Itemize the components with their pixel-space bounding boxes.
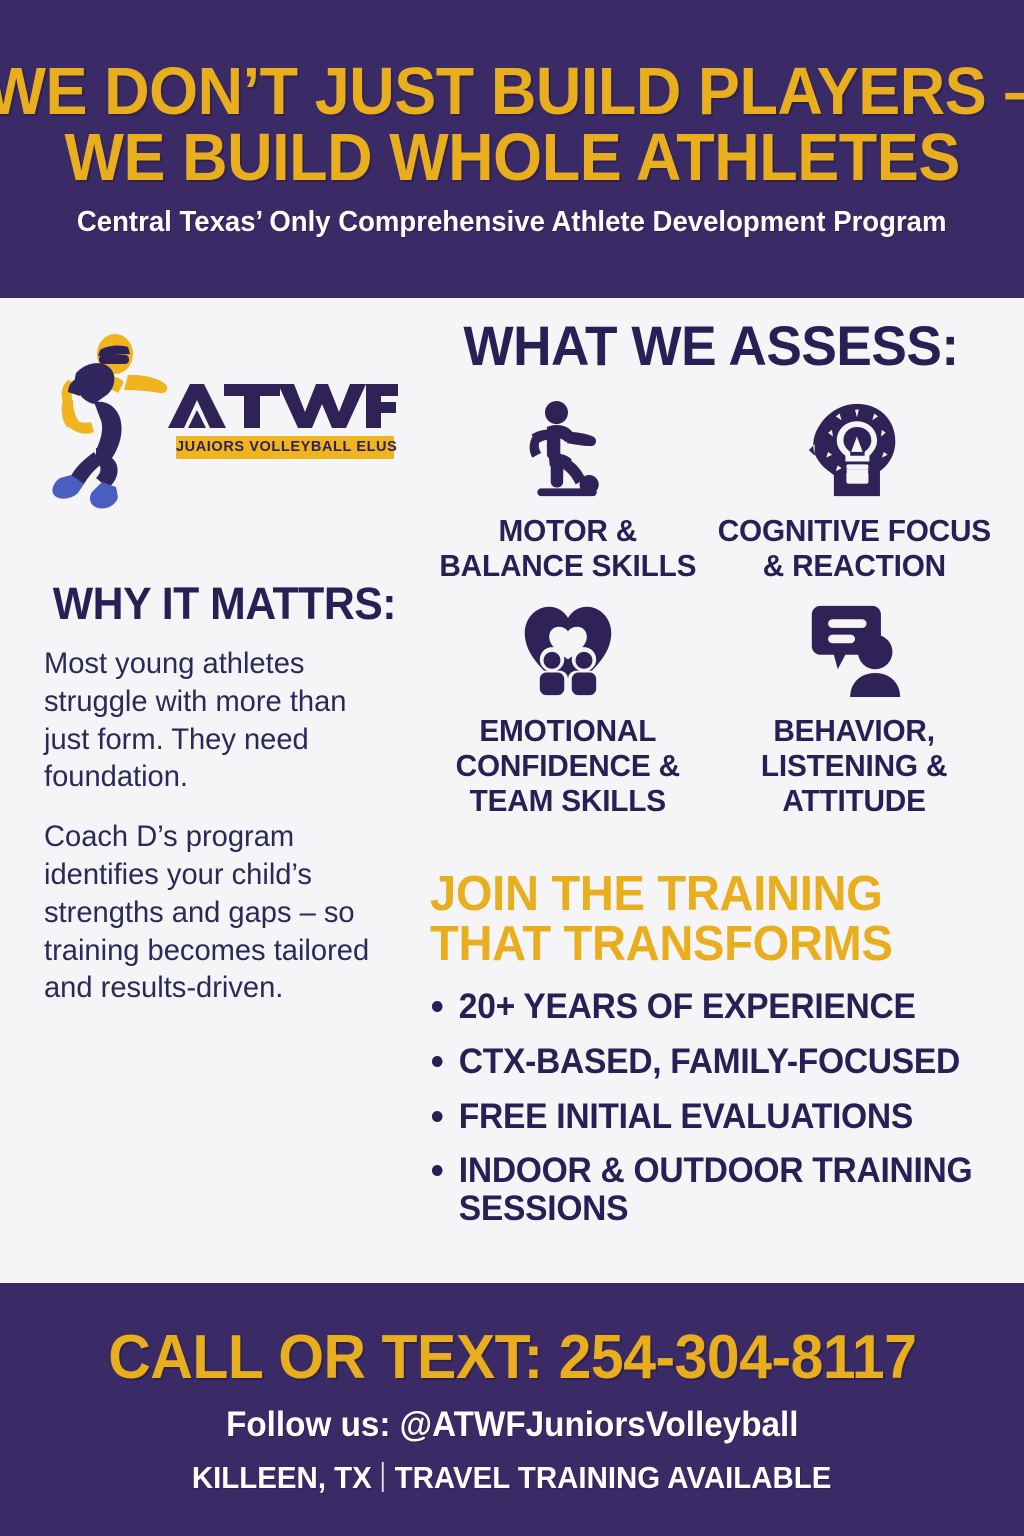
assess-item: MOTOR & BALANCE SKILLS (424, 394, 711, 584)
what-we-assess-section: WHAT WE ASSESS: (424, 318, 998, 819)
list-item: 20+ YEARS OF EXPERIENCE (430, 988, 987, 1026)
join-benefits-list: 20+ YEARS OF EXPERIENCE CTX-BASED, FAMIL… (430, 988, 1010, 1228)
join-training-section: JOIN THE TRAINING THAT TRANSFORMS 20+ YE… (430, 870, 1010, 1228)
city-label: KILLEEN, TX (192, 1462, 372, 1493)
headline-line-2: WE BUILD WHOLE ATHLETES (0, 125, 1024, 191)
phone-cta[interactable]: CALL OR TEXT: 254-304-8117 (108, 1327, 916, 1389)
join-title-line-1: JOIN THE TRAINING (430, 870, 987, 920)
travel-label: TRAVEL TRAINING AVAILABLE (395, 1462, 832, 1493)
list-item: FREE INITIAL EVALUATIONS (430, 1098, 987, 1136)
page-title: WE DON’T JUST BUILD PLAYERS – WE BUILD W… (0, 59, 1024, 190)
bullet-icon (432, 1001, 443, 1012)
logo-tagline-band: JUAIORS VOLLEYBALL ELUS (176, 436, 394, 459)
assess-item-label: COGNITIVE FOCUS & REACTION (718, 513, 991, 584)
list-item: INDOOR & OUTDOOR TRAINING SESSIONS (430, 1152, 987, 1228)
why-paragraph: Coach D’s program identifies your child’… (44, 818, 385, 1007)
bullet-icon (432, 1056, 443, 1067)
assess-grid: MOTOR & BALANCE SKILLS (424, 394, 998, 819)
assess-item: COGNITIVE FOCUS & REACTION (711, 394, 998, 584)
brand-logo: JUAIORS VOLLEYBALL ELUS (38, 328, 398, 523)
social-handle[interactable]: Follow us: @ATWFJuniorsVolleyball (226, 1407, 798, 1442)
logo-wordmark: JUAIORS VOLLEYBALL ELUS (166, 380, 398, 459)
poster-canvas: WE DON’T JUST BUILD PLAYERS – WE BUILD W… (0, 0, 1024, 1536)
join-title-line-2: THAT TRANSFORMS (430, 920, 987, 970)
bullet-icon (432, 1165, 443, 1176)
assess-item-label: EMOTIONAL CONFIDENCE & TEAM SKILLS (455, 713, 679, 819)
heart-family-icon (514, 594, 622, 706)
list-item-label: 20+ YEARS OF EXPERIENCE (459, 987, 916, 1026)
headline-line-1: WE DON’T JUST BUILD PLAYERS – (0, 59, 1024, 125)
list-item: CTX-BASED, FAMILY-FOCUSED (430, 1043, 987, 1081)
speech-bubble-person-icon (801, 594, 909, 706)
assess-item-label: MOTOR & BALANCE SKILLS (439, 513, 696, 584)
logo-tagline: JUAIORS VOLLEYBALL ELUS (176, 440, 394, 455)
atwf-letters-icon (166, 380, 398, 432)
why-section-title: WHY IT MATTRS: (53, 581, 387, 626)
assess-item: BEHAVIOR, LISTENING & ATTITUDE (711, 594, 998, 819)
list-item-label: CTX-BASED, FAMILY-FOCUSED (459, 1042, 960, 1081)
footer-band: CALL OR TEXT: 254-304-8117 Follow us: @A… (0, 1283, 1024, 1536)
why-paragraph: Most young athletes struggle with more t… (44, 645, 385, 796)
body-area: JUAIORS VOLLEYBALL ELUS WHY IT MATTRS: M… (0, 298, 1024, 1283)
bullet-icon (432, 1111, 443, 1122)
list-item-label: FREE INITIAL EVALUATIONS (459, 1097, 913, 1136)
assess-section-title: WHAT WE ASSESS: (438, 318, 983, 374)
volleyball-player-icon (38, 330, 168, 510)
header-band: WE DON’T JUST BUILD PLAYERS – WE BUILD W… (0, 0, 1024, 298)
list-item-label: INDOOR & OUTDOOR TRAINING SESSIONS (459, 1151, 973, 1228)
why-it-matters-section: WHY IT MATTRS: Most young athletes strug… (44, 581, 396, 1007)
assess-item-label: BEHAVIOR, LISTENING & ATTITUDE (761, 713, 947, 819)
header-subtitle: Central Texas’ Only Comprehensive Athlet… (77, 207, 947, 239)
location-line: KILLEEN, TX TRAVEL TRAINING AVAILABLE (192, 1462, 832, 1493)
balance-person-ball-icon (514, 394, 622, 506)
assess-item: EMOTIONAL CONFIDENCE & TEAM SKILLS (424, 594, 711, 819)
head-lightbulb-icon (801, 394, 909, 506)
vertical-divider (383, 1462, 385, 1492)
join-section-title: JOIN THE TRAINING THAT TRANSFORMS (430, 870, 987, 970)
